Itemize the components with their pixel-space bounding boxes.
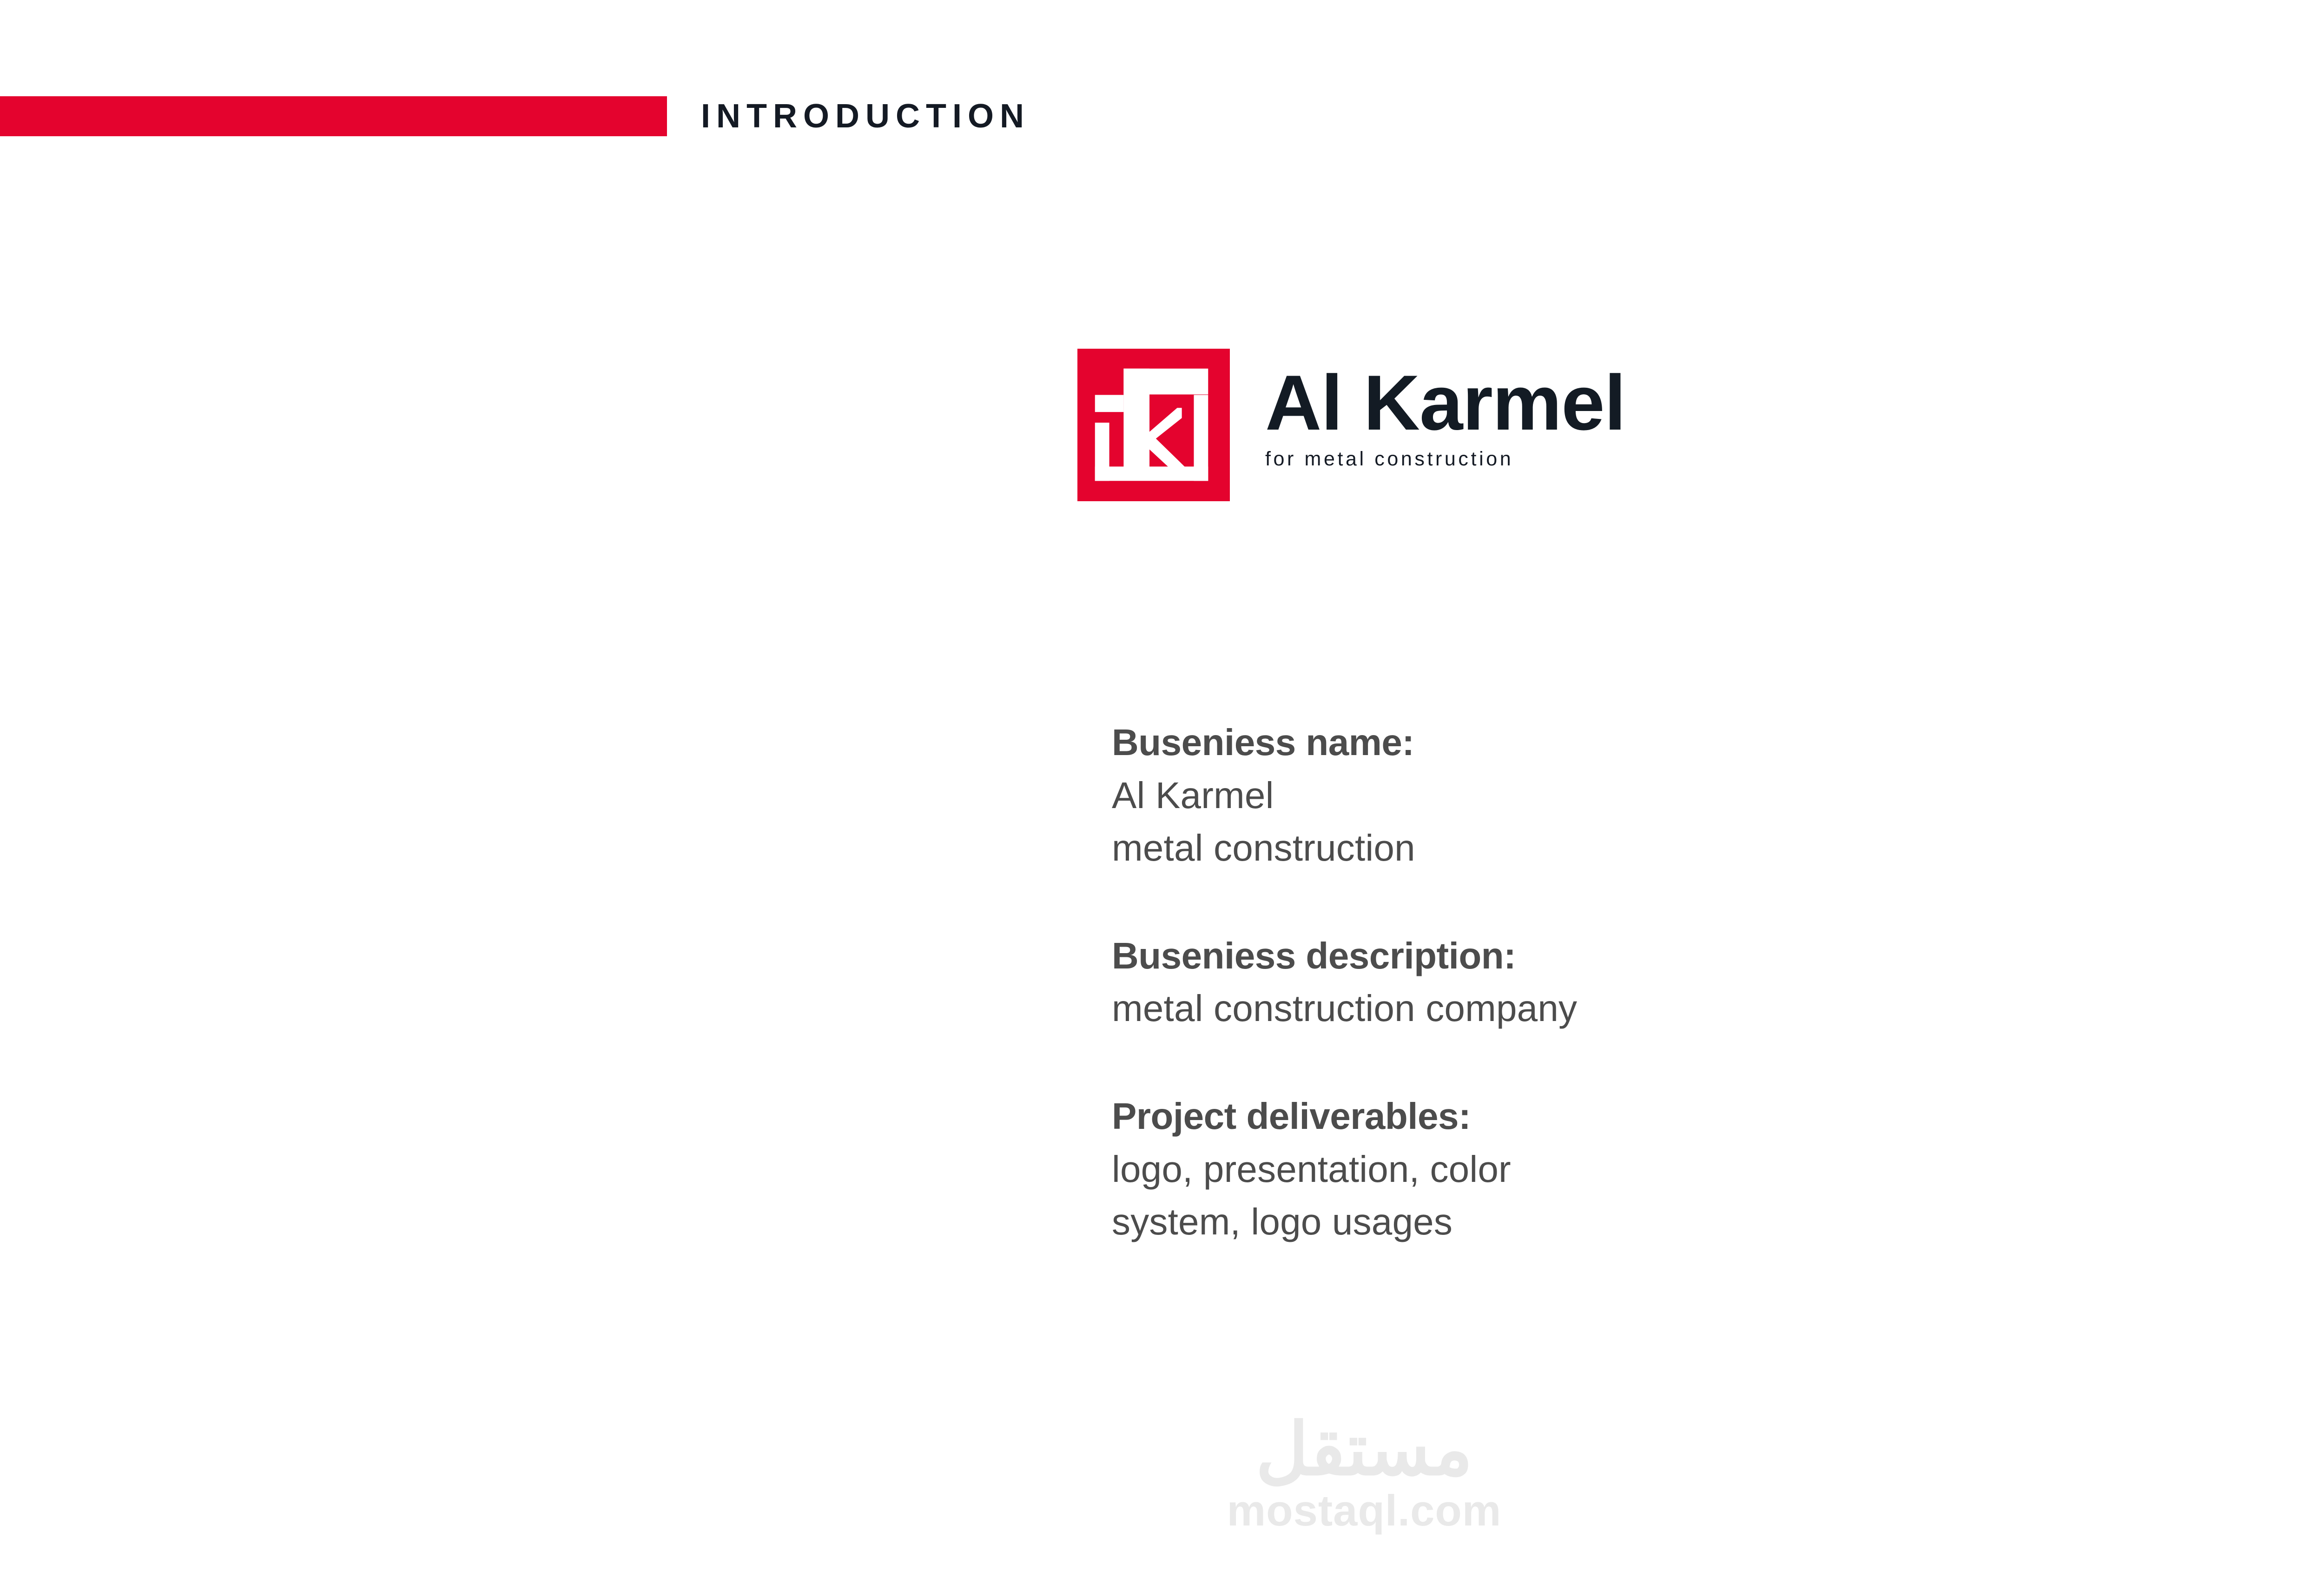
introduction-info-block: Buseniess name: Al Karmel metal construc… [1112,716,2227,1248]
logo-lockup: Al Karmel for metal construction [1077,349,1625,501]
logo-tagline: for metal construction [1265,449,1625,469]
watermark-arabic-text: مستقل [1183,1413,1545,1486]
info-section-project-deliverables: Project deliverables: logo, presentation… [1112,1090,2227,1248]
header-accent-bar [0,96,667,136]
watermark-url-text: mostaql.com [1183,1489,1545,1532]
info-heading: Project deliverables: [1112,1090,2227,1143]
info-heading: Buseniess description: [1112,929,2227,982]
info-section-business-name: Buseniess name: Al Karmel metal construc… [1112,716,2227,875]
info-heading: Buseniess name: [1112,716,2227,769]
al-karmel-logo-mark [1077,349,1230,501]
logo-wordmark: Al Karmel for metal construction [1265,349,1625,469]
info-line: Al Karmel [1112,769,2227,822]
mostaql-watermark: مستقل mostaql.com [1183,1413,1545,1532]
info-line: system, logo usages [1112,1195,2227,1248]
logo-company-name: Al Karmel [1265,371,1625,435]
info-section-business-description: Buseniess description: metal constructio… [1112,929,2227,1035]
info-line: logo, presentation, color [1112,1143,2227,1196]
info-line: metal construction company [1112,982,2227,1035]
slide-canvas: INTRODUCTION [0,0,2324,1585]
page-title: INTRODUCTION [701,96,1030,136]
info-line: metal construction [1112,822,2227,875]
